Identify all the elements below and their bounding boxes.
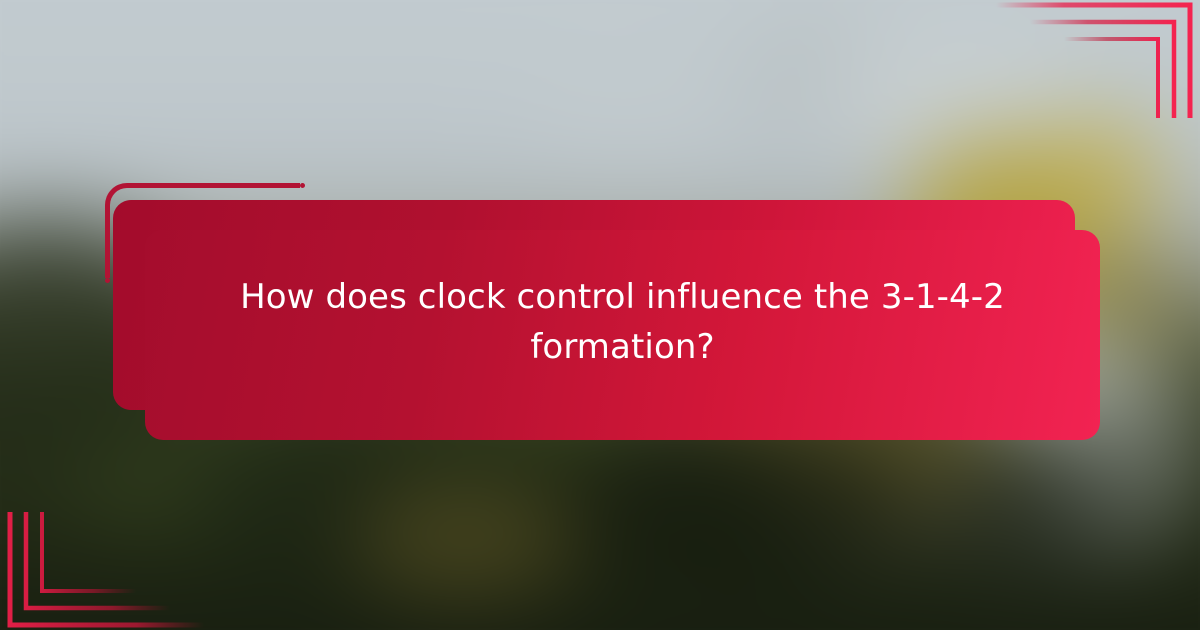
page-title: How does clock control influence the 3-1… [165, 272, 1080, 372]
background-blur-blob [820, 40, 1080, 160]
background-blur-blob [350, 485, 580, 595]
background-blur-blob [920, 440, 1140, 580]
social-share-card: How does clock control influence the 3-1… [0, 0, 1200, 630]
background-blur-blob [520, 70, 740, 160]
background-blur-blob [560, 420, 920, 590]
